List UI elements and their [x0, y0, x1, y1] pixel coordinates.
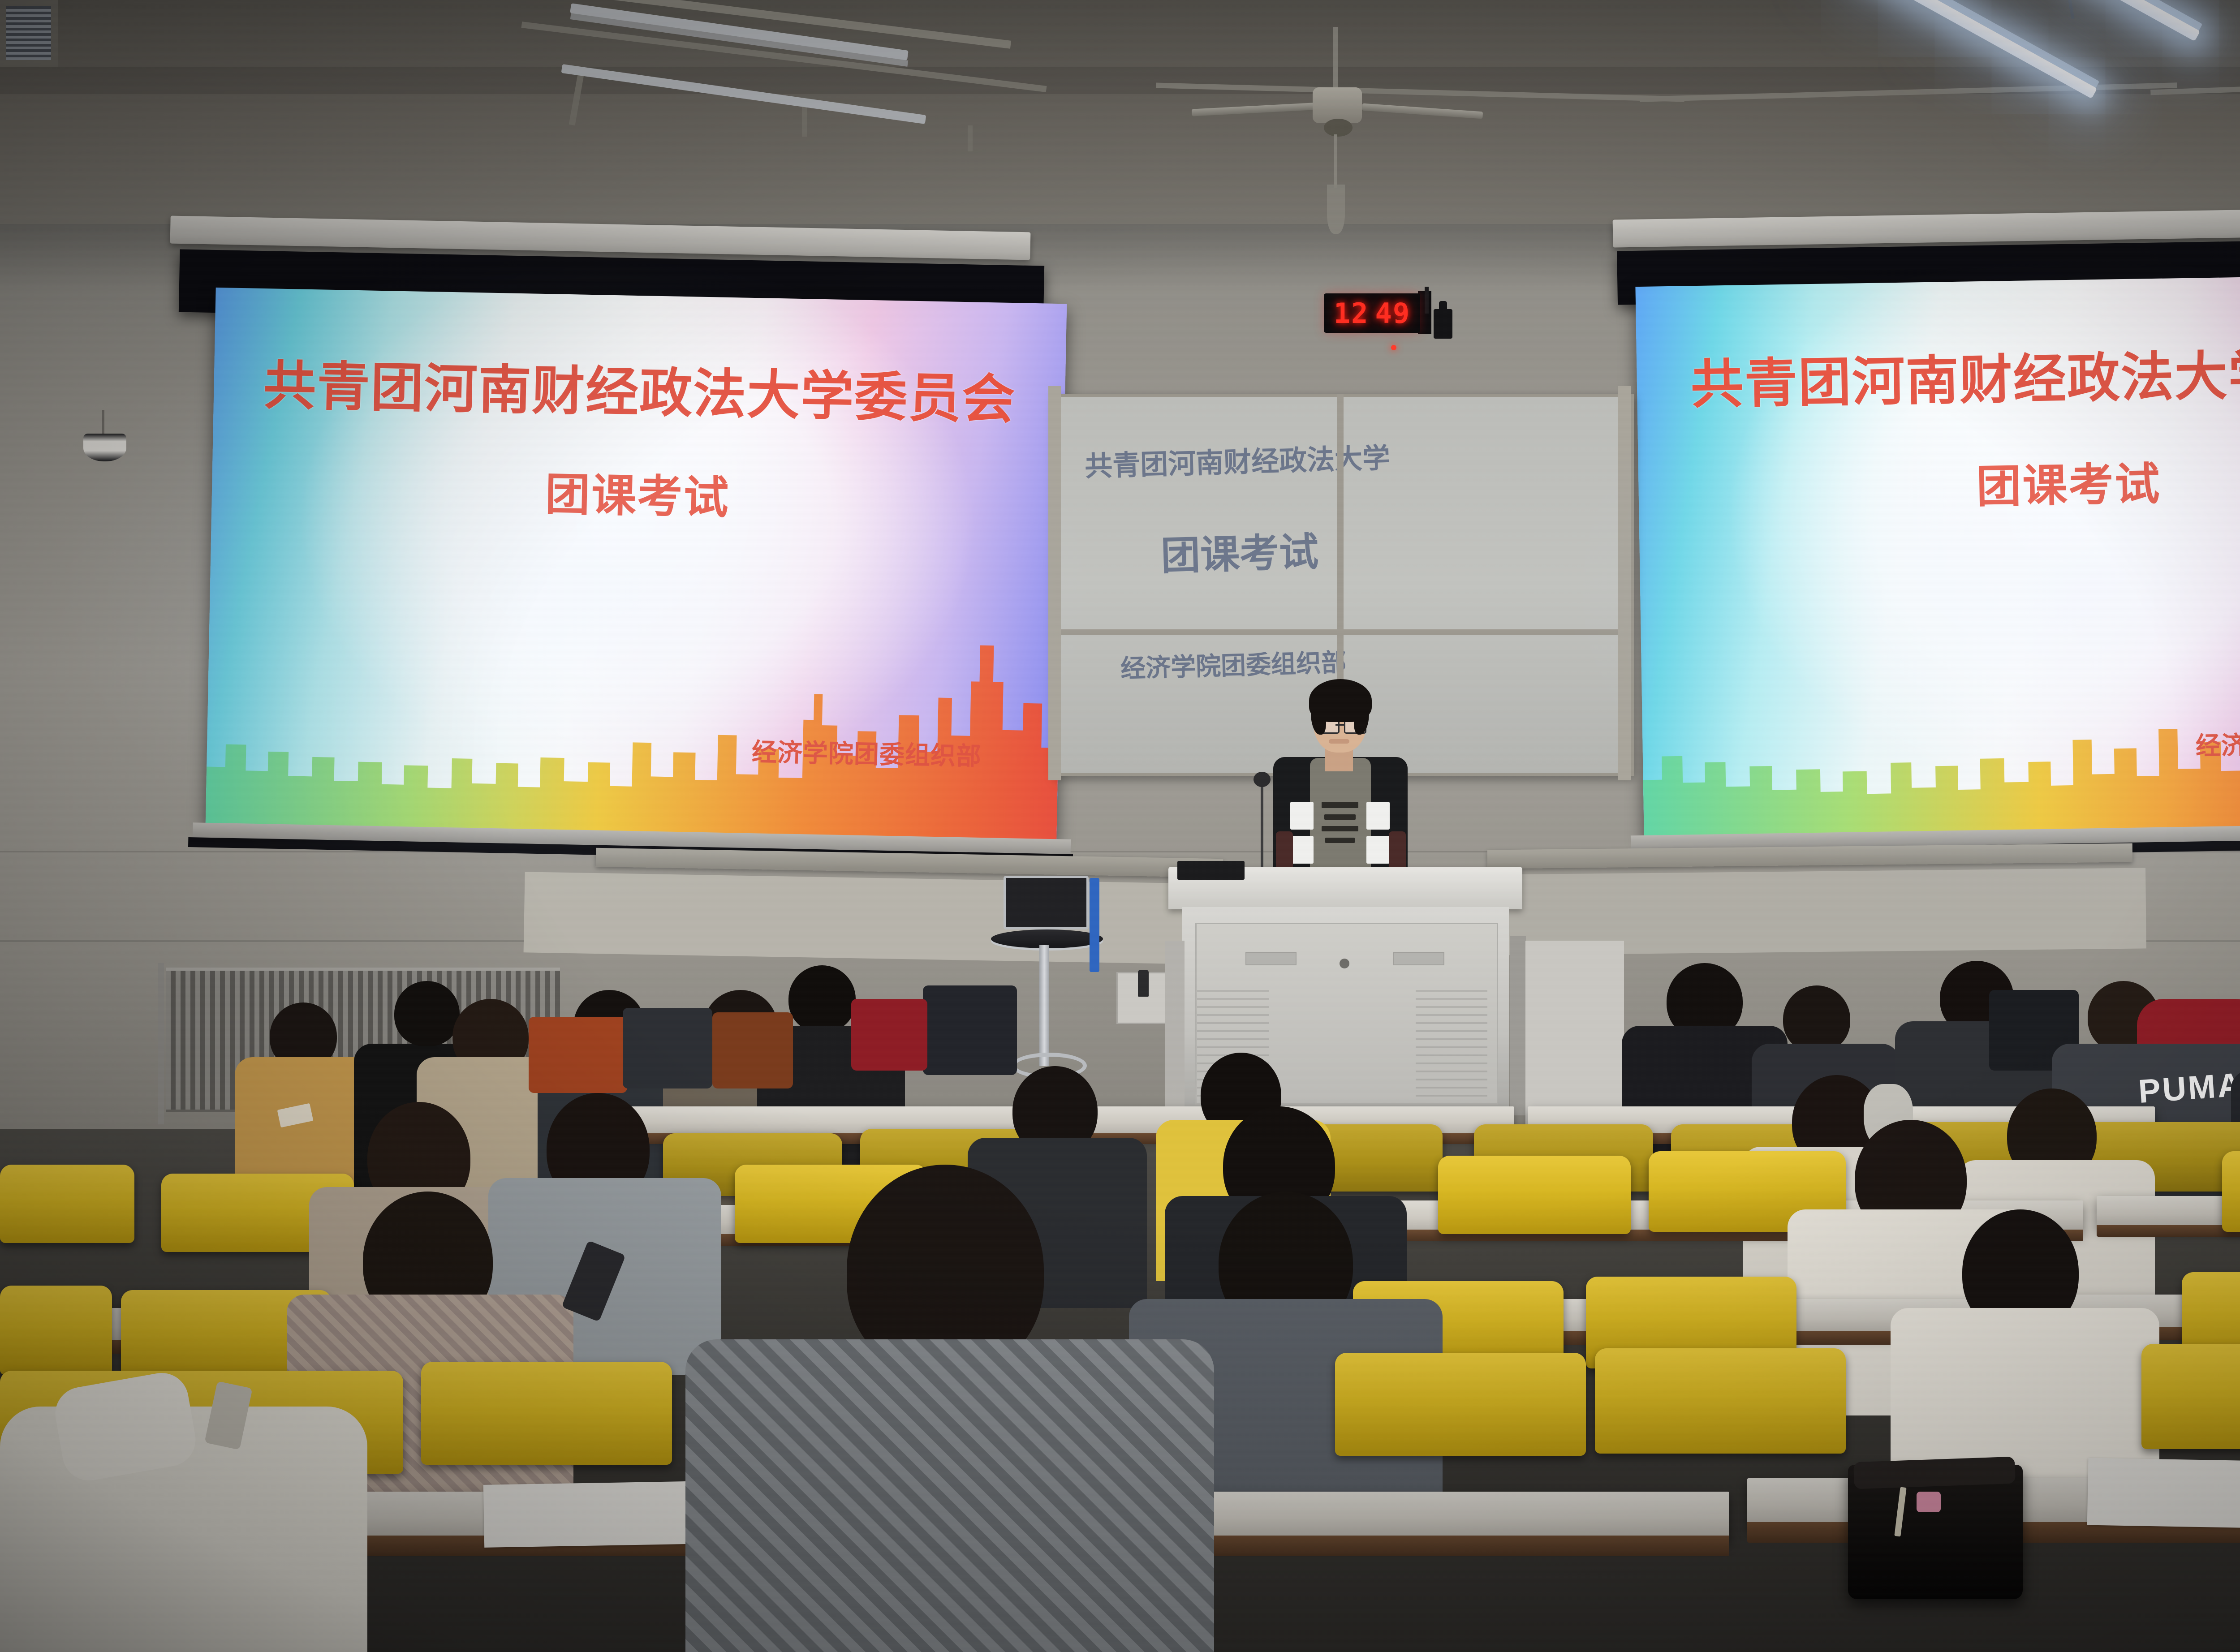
- ceiling-hanger: [968, 125, 973, 151]
- student-head: [788, 965, 856, 1032]
- podium-side: [1510, 936, 1526, 1115]
- radiator-pipe: [158, 963, 164, 1124]
- corner-vent-louver: [6, 6, 51, 60]
- seat[interactable]: [0, 1286, 112, 1375]
- presenter-mouth: [1329, 739, 1349, 744]
- whiteboard-post-left: [1048, 386, 1061, 780]
- fan-pullchain: [1334, 134, 1337, 188]
- vest-panel: [1366, 802, 1390, 830]
- marker-pen[interactable]: [1090, 878, 1099, 972]
- whiteboard-line-2: 团课考试: [1160, 520, 1319, 581]
- microphone-icon: [1254, 772, 1271, 787]
- clock-antenna: [1425, 287, 1429, 314]
- bar-stool-post: [1039, 945, 1049, 1066]
- whiteboard-divider-horizontal: [1055, 629, 1628, 635]
- projection-screen-left: 共青团河南财经政法大学委员会 团课考试 经济学院团委组织部: [206, 288, 1067, 841]
- podium-vent: [1393, 952, 1444, 965]
- seat[interactable]: [421, 1362, 672, 1465]
- digital-clock: 12 49: [1324, 293, 1420, 333]
- bar-stool-backrest[interactable]: [1004, 876, 1089, 929]
- camera-mount-arm: [102, 410, 104, 437]
- student-head: [394, 981, 460, 1046]
- vest-panel: [1290, 802, 1314, 830]
- podium-vent: [1245, 952, 1297, 965]
- seat[interactable]: [2141, 1344, 2240, 1449]
- marker-bottle[interactable]: [1138, 970, 1149, 997]
- side-cabinet: [1525, 941, 1624, 1129]
- slide-subtitle: 团课考试: [211, 452, 1064, 533]
- lecture-hall-scene: 12 49: [0, 0, 2240, 1652]
- podium-side: [1165, 941, 1185, 1120]
- skyline-graphic: [206, 605, 1061, 841]
- backpack[interactable]: [712, 1012, 793, 1088]
- seat[interactable]: [1335, 1353, 1586, 1456]
- ceiling-fan-hub: [1324, 119, 1353, 137]
- backpack[interactable]: [923, 985, 1017, 1075]
- clock-indicator-led: [1391, 345, 1396, 350]
- slide-title: 共青团河南财经政法大学委员会: [213, 341, 1066, 434]
- slide-title: 共青团河南财经政法大学委员会: [1636, 328, 2240, 418]
- backpack[interactable]: [529, 1017, 627, 1093]
- desk-edge: [2097, 1225, 2240, 1237]
- backpack[interactable]: [851, 999, 927, 1071]
- slide-footer: 经济学院团委组织部: [2195, 722, 2240, 762]
- fan-pullchain-weight: [1327, 185, 1345, 234]
- presenter-glasses-bridge: [1335, 724, 1345, 726]
- whiteboard-line-3: 经济学院团委组织部: [1120, 642, 1347, 685]
- shirt-print: [1322, 802, 1358, 808]
- seat[interactable]: [1438, 1156, 1631, 1234]
- shirt-print: [1325, 838, 1355, 843]
- vest-panel: [1290, 836, 1314, 864]
- podium-louver: [1416, 990, 1487, 1102]
- student-front-checkered-coat: [685, 1339, 1214, 1652]
- presenter-sleeve: [1276, 831, 1293, 872]
- clock-sensor-top: [1439, 301, 1447, 312]
- student-head: [1783, 985, 1850, 1053]
- clock-sensor-box: [1434, 309, 1452, 339]
- pencil-case-lid[interactable]: [1853, 1457, 2016, 1489]
- podium-button[interactable]: [1340, 959, 1349, 968]
- presenter-shirt: [1310, 758, 1371, 870]
- clock-hours: 12: [1334, 297, 1369, 330]
- seat[interactable]: [0, 1165, 134, 1243]
- clock-minutes: 49: [1375, 297, 1411, 330]
- shirt-print: [1324, 814, 1356, 820]
- projection-screen-right: 共青团河南财经政法大学委员会 团课考试 经济学院团委组织部: [1635, 273, 2240, 840]
- exam-paper[interactable]: [2087, 1458, 2240, 1530]
- ceiling-hanger: [802, 105, 807, 137]
- seat[interactable]: [2222, 1151, 2240, 1232]
- eraser[interactable]: [1917, 1492, 1941, 1512]
- vest-panel: [1366, 836, 1390, 864]
- puma-logo-text: PUMA: [2123, 1068, 2240, 1107]
- desk-row: [2097, 1196, 2240, 1228]
- slide-footer: 经济学院团委组织部: [751, 732, 982, 773]
- slide-subtitle: 团课考试: [1638, 442, 2240, 521]
- whiteboard-post-right: [1618, 386, 1631, 780]
- microphone-stem: [1261, 779, 1263, 869]
- podium-recess: [1177, 861, 1245, 880]
- ceiling-fan-rod: [1333, 27, 1338, 94]
- shirt-print: [1322, 826, 1358, 831]
- slide-content-right: 共青团河南财经政法大学委员会 团课考试 经济学院团委组织部: [1635, 273, 2240, 840]
- backpack[interactable]: [623, 1008, 712, 1088]
- podium-wall-panel-left: [524, 872, 1228, 964]
- ceiling: [0, 0, 2240, 251]
- ceiling-fan-motor: [1313, 87, 1362, 123]
- presenter-sleeve: [1389, 831, 1406, 872]
- dome-security-camera-icon: [83, 434, 126, 461]
- seat[interactable]: [1595, 1348, 1846, 1454]
- skyline-graphic: [1641, 600, 2240, 840]
- slide-content-left: 共青团河南财经政法大学委员会 团课考试 经济学院团委组织部: [206, 288, 1067, 841]
- whiteboard-line-1: 共青团河南财经政法大学: [1084, 435, 1391, 484]
